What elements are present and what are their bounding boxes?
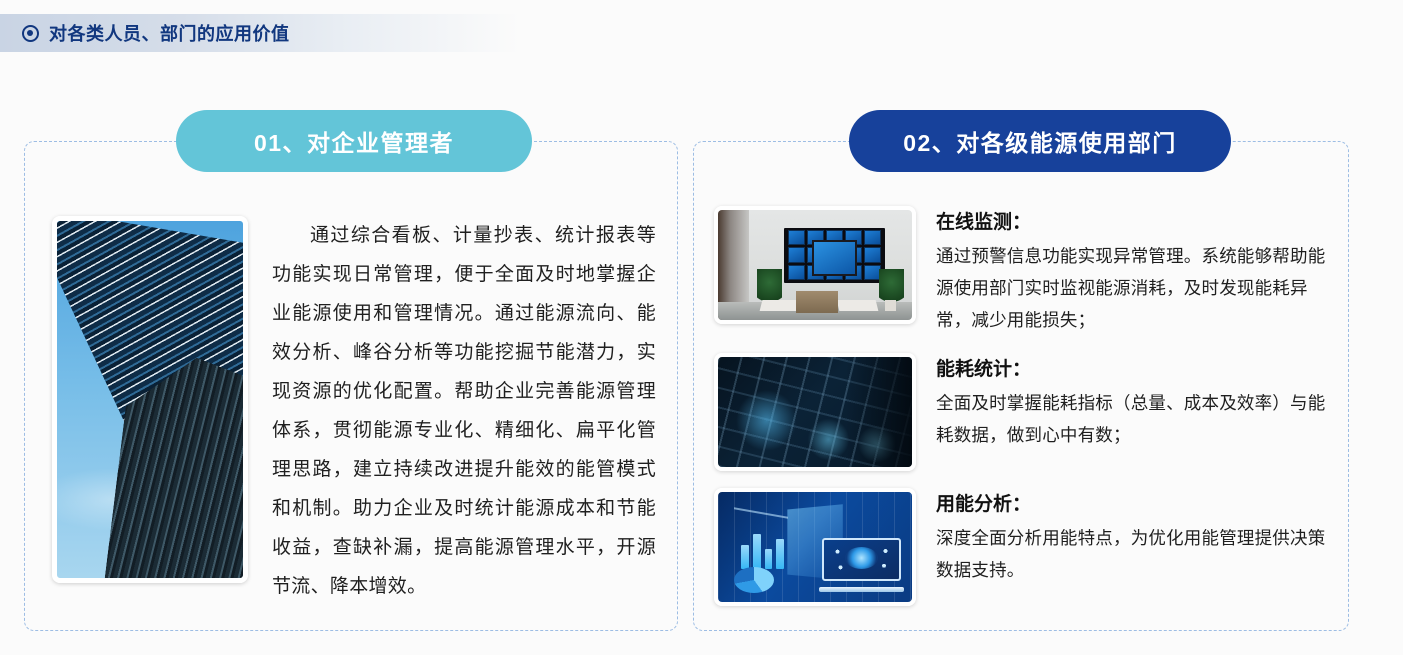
center-table	[796, 291, 839, 313]
list-item-text: 在线监测： 通过预警信息功能实现异常管理。系统能够帮助能源使用部门实时监视能源消…	[936, 206, 1334, 336]
list-item-body: 深度全面分析用能特点，为优化用能管理提供决策数据支持。	[936, 522, 1334, 586]
laptop-screen	[822, 538, 901, 581]
list-item: 用能分析： 深度全面分析用能特点，为优化用能管理提供决策数据支持。	[714, 488, 1334, 606]
desk-right	[837, 300, 879, 311]
panel-right-title-pill: 02、对各级能源使用部门	[849, 110, 1231, 172]
list-item: 在线监测： 通过预警信息功能实现异常管理。系统能够帮助能源使用部门实时监视能源消…	[714, 206, 1334, 336]
keyboard-shadow	[846, 357, 912, 467]
keyboard-glow-2	[807, 419, 850, 461]
bar-chart-graphic	[730, 525, 784, 569]
pie-chart-graphic	[734, 567, 774, 593]
list-item: 能耗统计： 全面及时掌握能耗指标（总量、成本及效率）与能耗数据，做到心中有数；	[714, 353, 1334, 471]
page-title: 对各类人员、部门的应用价值	[49, 20, 290, 46]
panel-left-title-pill: 01、对企业管理者	[176, 110, 532, 172]
target-circle-icon	[22, 25, 39, 42]
list-item-text: 用能分析： 深度全面分析用能特点，为优化用能管理提供决策数据支持。	[936, 488, 1334, 586]
laptop-base	[819, 587, 904, 593]
data-analytics-laptop-graphic	[714, 488, 916, 606]
control-room-video-wall-photo	[714, 206, 916, 324]
list-item-heading: 用能分析：	[936, 490, 1334, 520]
keyboard-glow-1	[734, 390, 800, 451]
list-item-heading: 能耗统计：	[936, 355, 1334, 385]
laptop-graphic	[819, 538, 904, 593]
list-item-heading: 在线监测：	[936, 208, 1334, 238]
keyboard-closeup-photo	[714, 353, 916, 471]
panel-left-body-text: 通过综合看板、计量抄表、统计报表等功能实现日常管理，便于全面及时地掌握企业能源使…	[272, 216, 656, 606]
desk-left	[759, 300, 801, 311]
video-wall	[784, 228, 885, 283]
network-nodes	[824, 540, 899, 579]
list-item-body: 通过预警信息功能实现异常管理。系统能够帮助能源使用部门实时监视能源消耗，及时发现…	[936, 240, 1334, 336]
skyscrapers-blue-sky-photo	[52, 216, 248, 583]
list-item-text: 能耗统计： 全面及时掌握能耗指标（总量、成本及效率）与能耗数据，做到心中有数；	[936, 353, 1334, 451]
video-wall-main-screen	[812, 240, 856, 276]
panel-left-content: 通过综合看板、计量抄表、统计报表等功能实现日常管理，便于全面及时地掌握企业能源使…	[52, 216, 656, 606]
section-header-banner: 对各类人员、部门的应用价值	[0, 14, 520, 52]
list-item-body: 全面及时掌握能耗指标（总量、成本及效率）与能耗数据，做到心中有数；	[936, 387, 1334, 451]
panel-right-content: 在线监测： 通过预警信息功能实现异常管理。系统能够帮助能源使用部门实时监视能源消…	[714, 206, 1334, 606]
plant-pot-right	[885, 300, 897, 311]
